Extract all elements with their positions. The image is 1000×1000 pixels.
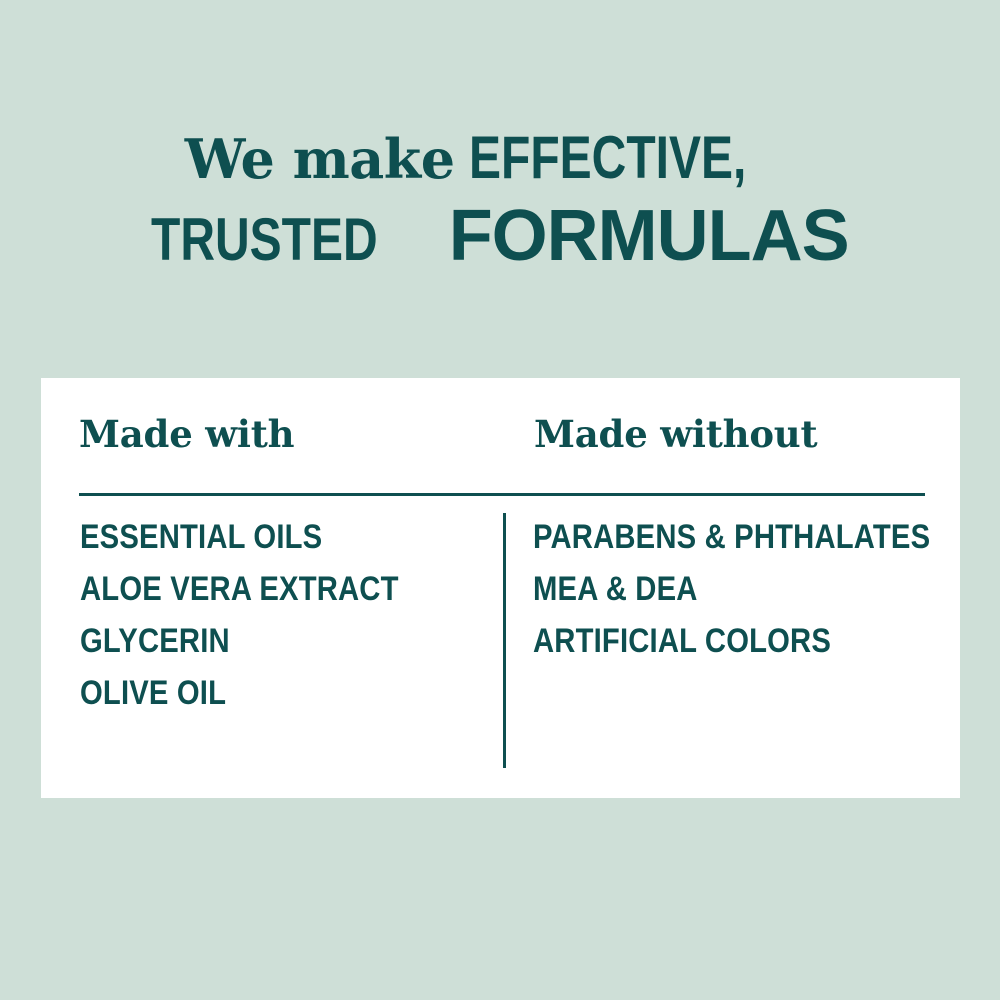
list-item: ARTIFICIAL COLORS — [533, 615, 870, 667]
column-vertical-divider — [503, 513, 506, 768]
column-header-made-without: Made without — [534, 416, 817, 453]
list-item: PARABENS & PHTHALATES — [533, 511, 870, 563]
list-item: ESSENTIAL OILS — [80, 511, 433, 563]
made-with-list: ESSENTIAL OILS ALOE VERA EXTRACT GLYCERI… — [80, 511, 490, 719]
headline-trusted: TRUSTED — [151, 210, 378, 270]
headline-effective: EFFECTIVE, — [469, 128, 746, 188]
headline-line-2: TRUSTEDFORMULAS — [0, 200, 1000, 272]
list-item: ALOE VERA EXTRACT — [80, 563, 433, 615]
ingredients-card: Made with Made without ESSENTIAL OILS AL… — [41, 378, 960, 798]
list-item: MEA & DEA — [533, 563, 870, 615]
list-item: OLIVE OIL — [80, 667, 433, 719]
headline-line-1: We makeEFFECTIVE, — [0, 128, 1000, 188]
column-header-made-with: Made with — [79, 416, 294, 453]
column-headers: Made with Made without — [79, 416, 925, 468]
page-headline: We makeEFFECTIVE, TRUSTEDFORMULAS — [0, 128, 1000, 272]
headline-formulas: FORMULAS — [449, 200, 849, 272]
made-without-list: PARABENS & PHTHALATES MEA & DEA ARTIFICI… — [533, 511, 925, 667]
ingredients-columns: Made with Made without ESSENTIAL OILS AL… — [79, 378, 925, 798]
header-divider-rule — [79, 493, 925, 496]
list-item: GLYCERIN — [80, 615, 433, 667]
headline-we-make: We make — [185, 127, 455, 191]
